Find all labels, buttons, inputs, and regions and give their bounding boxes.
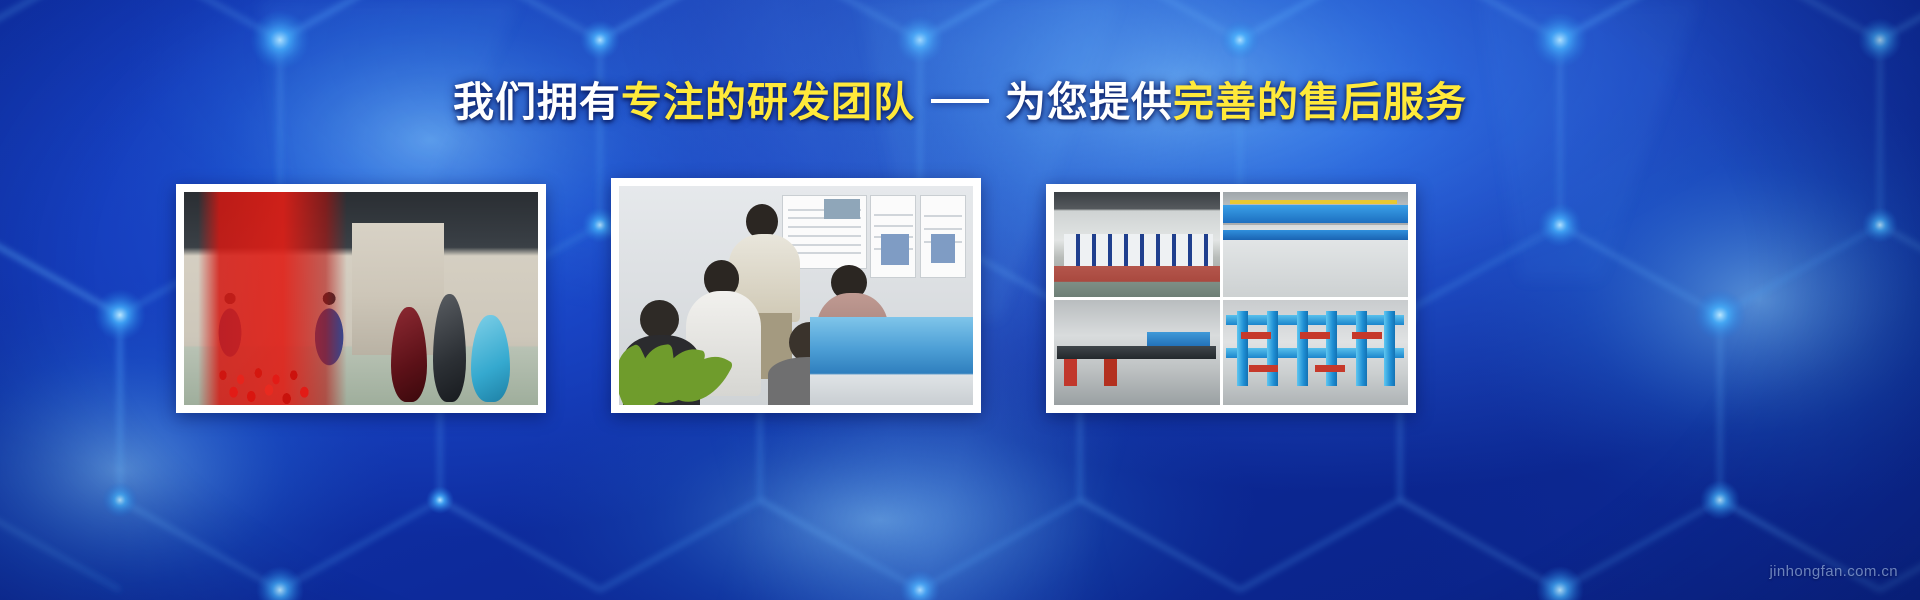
workshop-collage-photo-frame[interactable] [1046, 184, 1416, 413]
blue-duct-lower [1223, 230, 1408, 241]
red-crossbar-1 [1241, 332, 1271, 339]
red-support-a [1064, 359, 1077, 386]
page-title: 我们拥有专注的研发团队为您提供完善的售后服务 [0, 82, 1920, 123]
customer-meeting-photo-frame[interactable] [611, 178, 981, 413]
red-crossbar-3 [1352, 332, 1382, 339]
vase-black [433, 294, 466, 402]
promo-banner: 我们拥有专注的研发团队为您提供完善的售后服务 [0, 0, 1920, 600]
red-crossbar-2 [1300, 332, 1330, 339]
vase-cyan [471, 315, 510, 402]
rack-post-3 [1297, 311, 1308, 387]
glass-vases-overlay [382, 273, 531, 405]
poster-thumbnail-a [824, 199, 859, 219]
red-support-b [1104, 359, 1117, 386]
poster-thumbnail-b [881, 234, 909, 265]
blue-duct-line-image [1223, 192, 1408, 297]
headline-part-2-highlight: 专注的研发团队 [621, 79, 915, 125]
rack-post-2 [1267, 311, 1278, 387]
conveyor-rail [1057, 346, 1216, 359]
factory-paint-line-image [184, 192, 538, 405]
blue-duct-upper [1223, 205, 1408, 224]
plating-tanks-row [1064, 234, 1213, 270]
blue-racks-image [1223, 300, 1408, 405]
rack-post-4 [1326, 311, 1337, 387]
poster-thumbnail-c [931, 234, 956, 262]
headline-part-1: 我们拥有 [453, 79, 621, 125]
headline-part-4-highlight: 完善的售后服务 [1173, 79, 1467, 125]
red-crossbar-5 [1315, 365, 1345, 372]
rack-post-1 [1237, 311, 1248, 387]
meeting-room-image [619, 186, 973, 405]
hall-floor [1054, 266, 1220, 298]
conveyor-line-image [1054, 300, 1220, 405]
headline-dash-divider [931, 99, 989, 103]
rack-top-beam [1226, 315, 1404, 325]
site-watermark: jinhongfan.com.cn [1769, 563, 1898, 580]
rack-mid-beam [1226, 348, 1404, 358]
vase-red [391, 307, 427, 402]
rack-post-6 [1384, 311, 1395, 387]
production-line-photo-frame[interactable] [176, 184, 546, 413]
headline-part-3: 为您提供 [1005, 79, 1173, 125]
red-crossbar-4 [1249, 365, 1279, 372]
potted-plant [626, 339, 704, 405]
rack-post-5 [1356, 311, 1367, 387]
plating-hall-image [1054, 192, 1220, 297]
machine-model-display [810, 317, 973, 405]
